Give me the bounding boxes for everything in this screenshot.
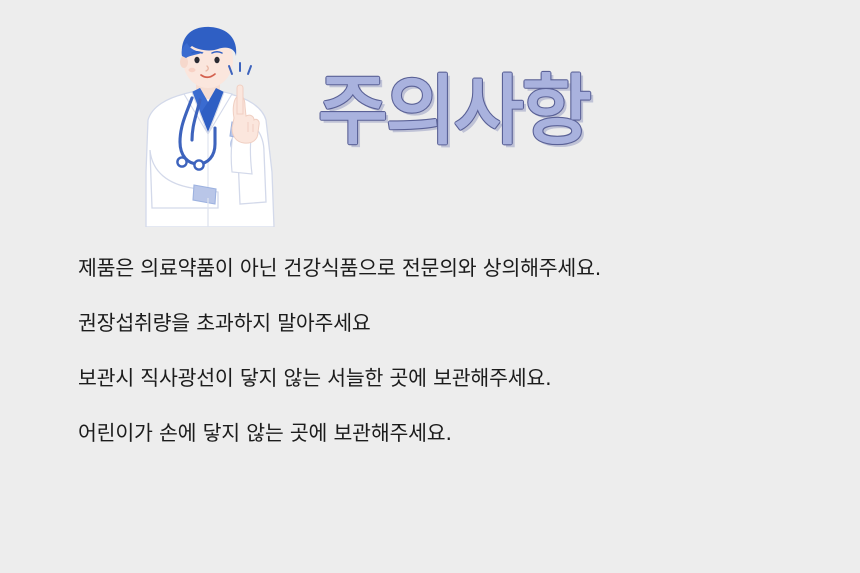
notice-line: 보관시 직사광선이 닿지 않는 서늘한 곳에 보관해주세요. [78,368,818,423]
page-title-text: 주의사항 [318,66,591,155]
header-band: 주의사항 주의사항 [0,0,860,240]
page-title: 주의사항 주의사항 [314,60,614,160]
doctor-illustration [122,22,298,230]
notice-page: 주의사항 주의사항 제품은 의료약품이 아닌 건강식품으로 전문의와 상의해주세… [0,0,860,573]
notice-line: 어린이가 손에 닿지 않는 곳에 보관해주세요. [78,423,818,478]
notice-line: 권장섭취량을 초과하지 말아주세요 [78,313,818,368]
notice-list: 제품은 의료약품이 아닌 건강식품으로 전문의와 상의해주세요. 권장섭취량을 … [78,258,818,478]
notice-line: 제품은 의료약품이 아닌 건강식품으로 전문의와 상의해주세요. [78,258,818,313]
